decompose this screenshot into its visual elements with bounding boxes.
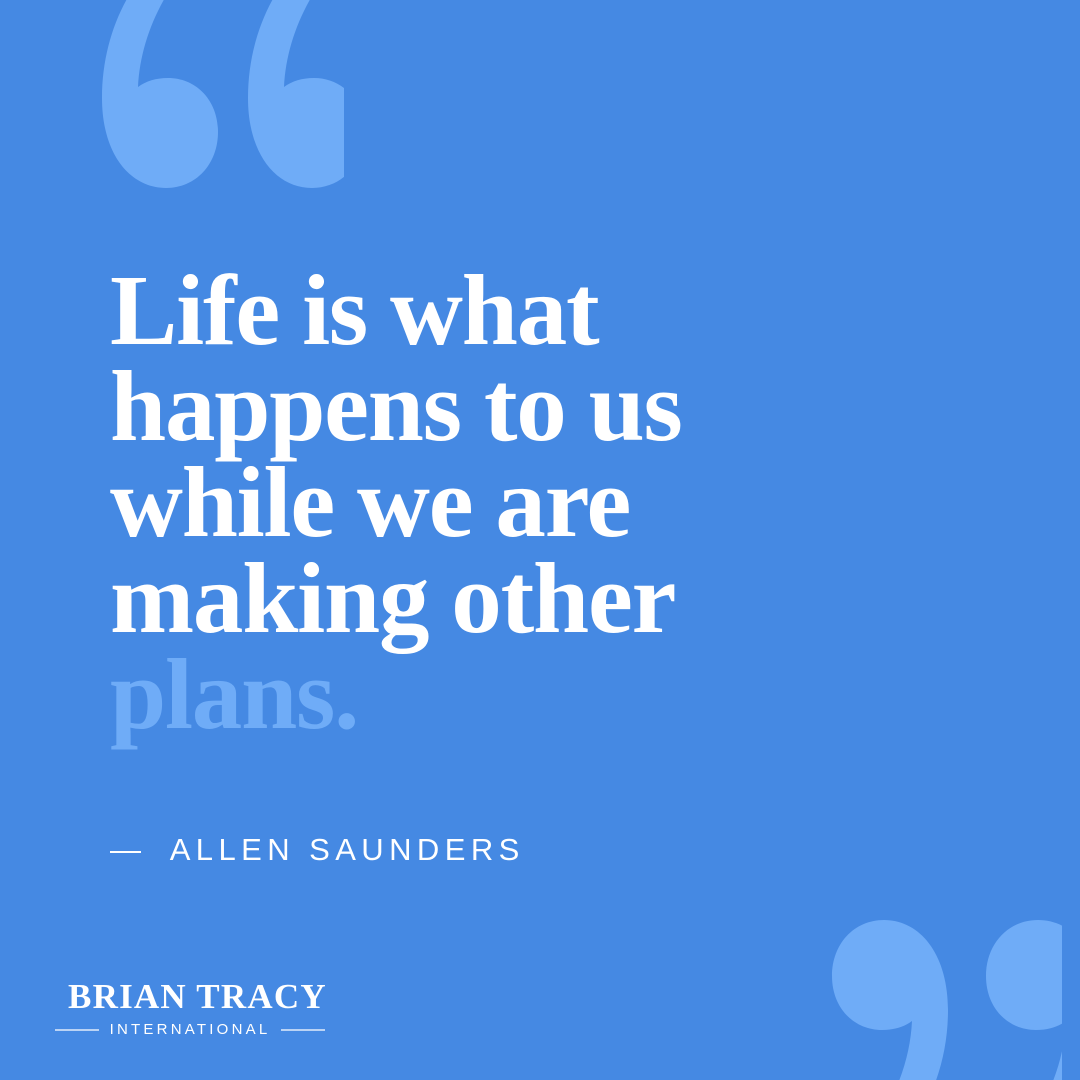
quote-line-4: making other — [110, 550, 810, 646]
attribution: — ALLEN SAUNDERS — [110, 832, 525, 868]
attribution-dash: — — [110, 832, 142, 867]
closing-double-quote-icon — [742, 880, 1062, 1080]
logo-name: BRIAN TRACY — [68, 978, 312, 1016]
logo-rule-right — [281, 1029, 325, 1031]
quote-line-1: Life is what — [110, 262, 810, 358]
quote-text: Life is what happens to us while we are … — [110, 262, 810, 742]
quote-line-3: while we are — [110, 454, 810, 550]
logo-subtitle-row: INTERNATIONAL — [68, 1021, 312, 1038]
logo-subtitle: INTERNATIONAL — [110, 1021, 271, 1038]
logo-rule-left — [55, 1029, 99, 1031]
attribution-author: ALLEN SAUNDERS — [170, 832, 525, 867]
quote-line-5: plans. — [110, 646, 810, 742]
quote-line-2: happens to us — [110, 358, 810, 454]
quote-card: Life is what happens to us while we are … — [0, 0, 1080, 1080]
brand-logo: BRIAN TRACY INTERNATIONAL — [68, 978, 312, 1038]
opening-double-quote-icon — [44, 0, 344, 208]
